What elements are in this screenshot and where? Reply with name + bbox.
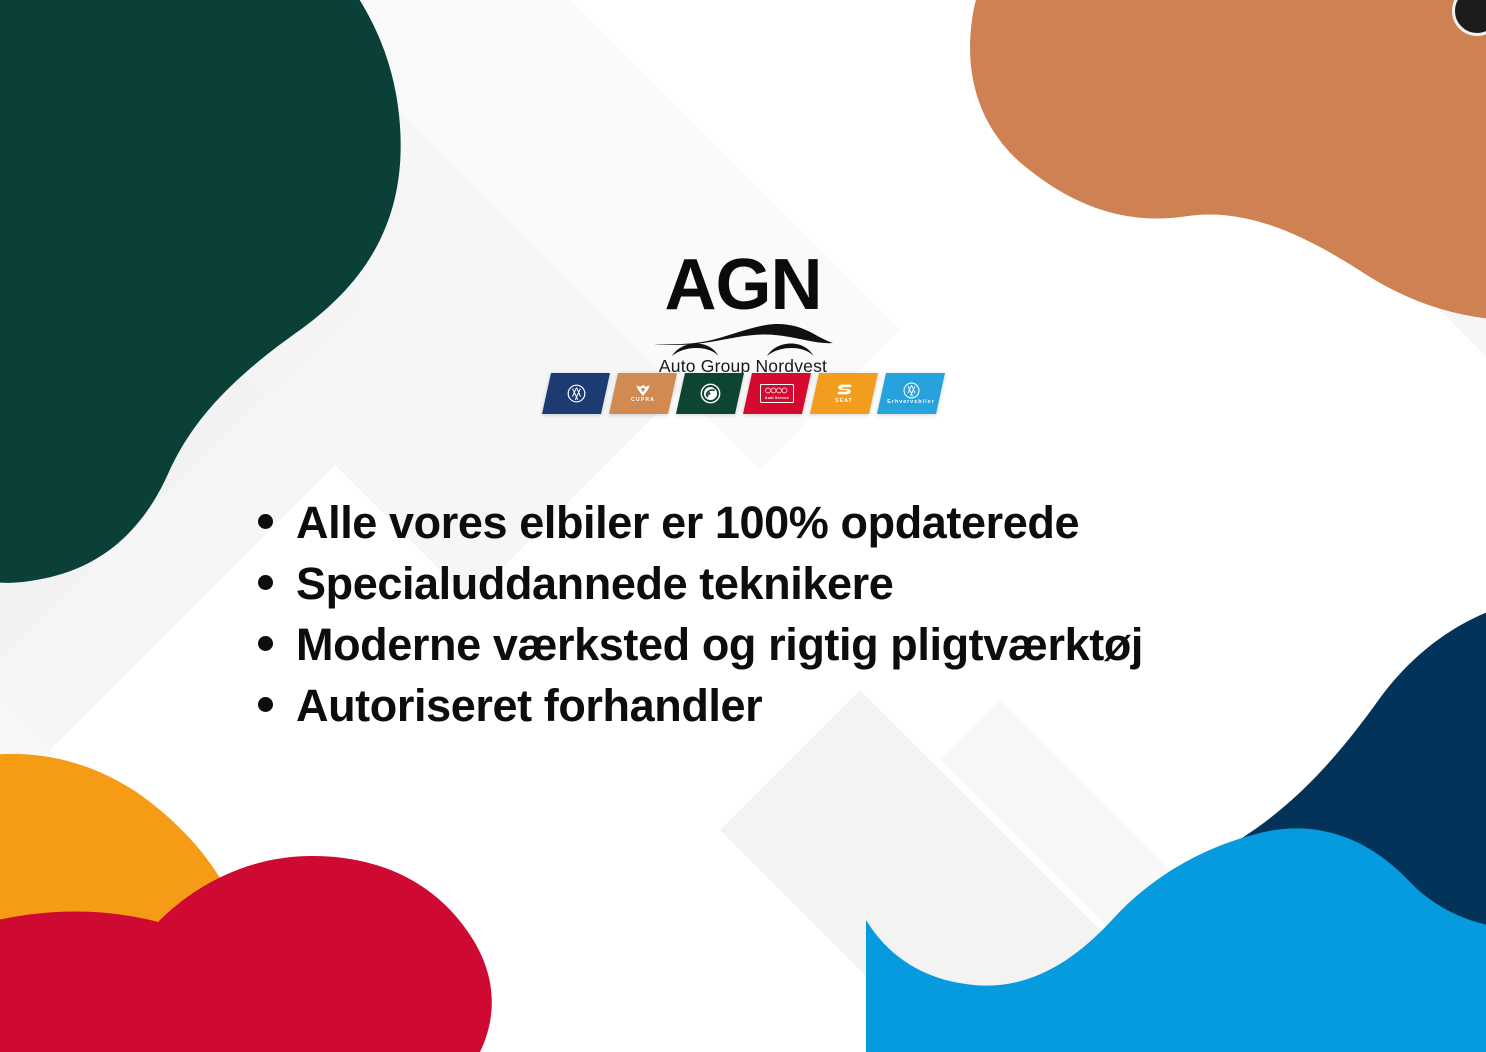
presentation-slide: AGN Auto Group Nordvest (0, 0, 1486, 1052)
corner-circle-badge (1452, 0, 1486, 36)
slide-content: AGN Auto Group Nordvest (0, 0, 1486, 1052)
bullet-dot-icon (258, 636, 273, 651)
brand-segment-volkswagen[interactable] (542, 373, 610, 414)
audi-service-label: Audi Service (765, 396, 789, 400)
brand-label-cupra: CUPRA (631, 398, 655, 403)
brand-segment-cupra[interactable]: CUPRA (609, 373, 677, 414)
bullet-dot-icon (258, 514, 273, 529)
audi-service-badge: Audi Service (760, 384, 794, 403)
bullet-text: Moderne værksted og rigtig pligtværktøj (296, 622, 1143, 667)
brand-segment-seat[interactable]: SEAT (810, 373, 878, 414)
brand-segment-skoda[interactable] (676, 373, 744, 414)
brand-label-erhvervsbiler: Erhvervsbiler (887, 400, 934, 405)
list-item: Specialuddannede teknikere (258, 561, 1143, 622)
bullet-dot-icon (258, 697, 273, 712)
bullet-dot-icon (258, 575, 273, 590)
agn-logo: AGN Auto Group Nordvest (0, 252, 1486, 377)
bullet-list: Alle vores elbiler er 100% opdaterede Sp… (258, 500, 1143, 744)
skoda-logo-icon (700, 383, 721, 404)
bullet-text: Specialuddannede teknikere (296, 561, 893, 606)
bullet-text: Alle vores elbiler er 100% opdaterede (296, 500, 1079, 545)
seat-logo-icon (836, 383, 853, 398)
brand-segment-vw-erhvervsbiler[interactable]: Erhvervsbiler (877, 373, 945, 414)
brand-segment-audi-service[interactable]: Audi Service (743, 373, 811, 414)
vw-logo-icon (567, 384, 586, 403)
car-silhouette-icon (650, 320, 836, 360)
cupra-logo-icon (635, 384, 651, 397)
brand-label-seat: SEAT (835, 399, 853, 404)
list-item: Alle vores elbiler er 100% opdaterede (258, 500, 1143, 561)
bullet-text: Autoriseret forhandler (296, 683, 762, 728)
list-item: Autoriseret forhandler (258, 683, 1143, 744)
brand-bar: CUPRA (542, 373, 944, 414)
list-item: Moderne værksted og rigtig pligtværktøj (258, 622, 1143, 683)
logo-wordmark: AGN (665, 252, 822, 318)
audi-rings-icon (765, 387, 789, 394)
vw-logo-icon (903, 382, 920, 399)
